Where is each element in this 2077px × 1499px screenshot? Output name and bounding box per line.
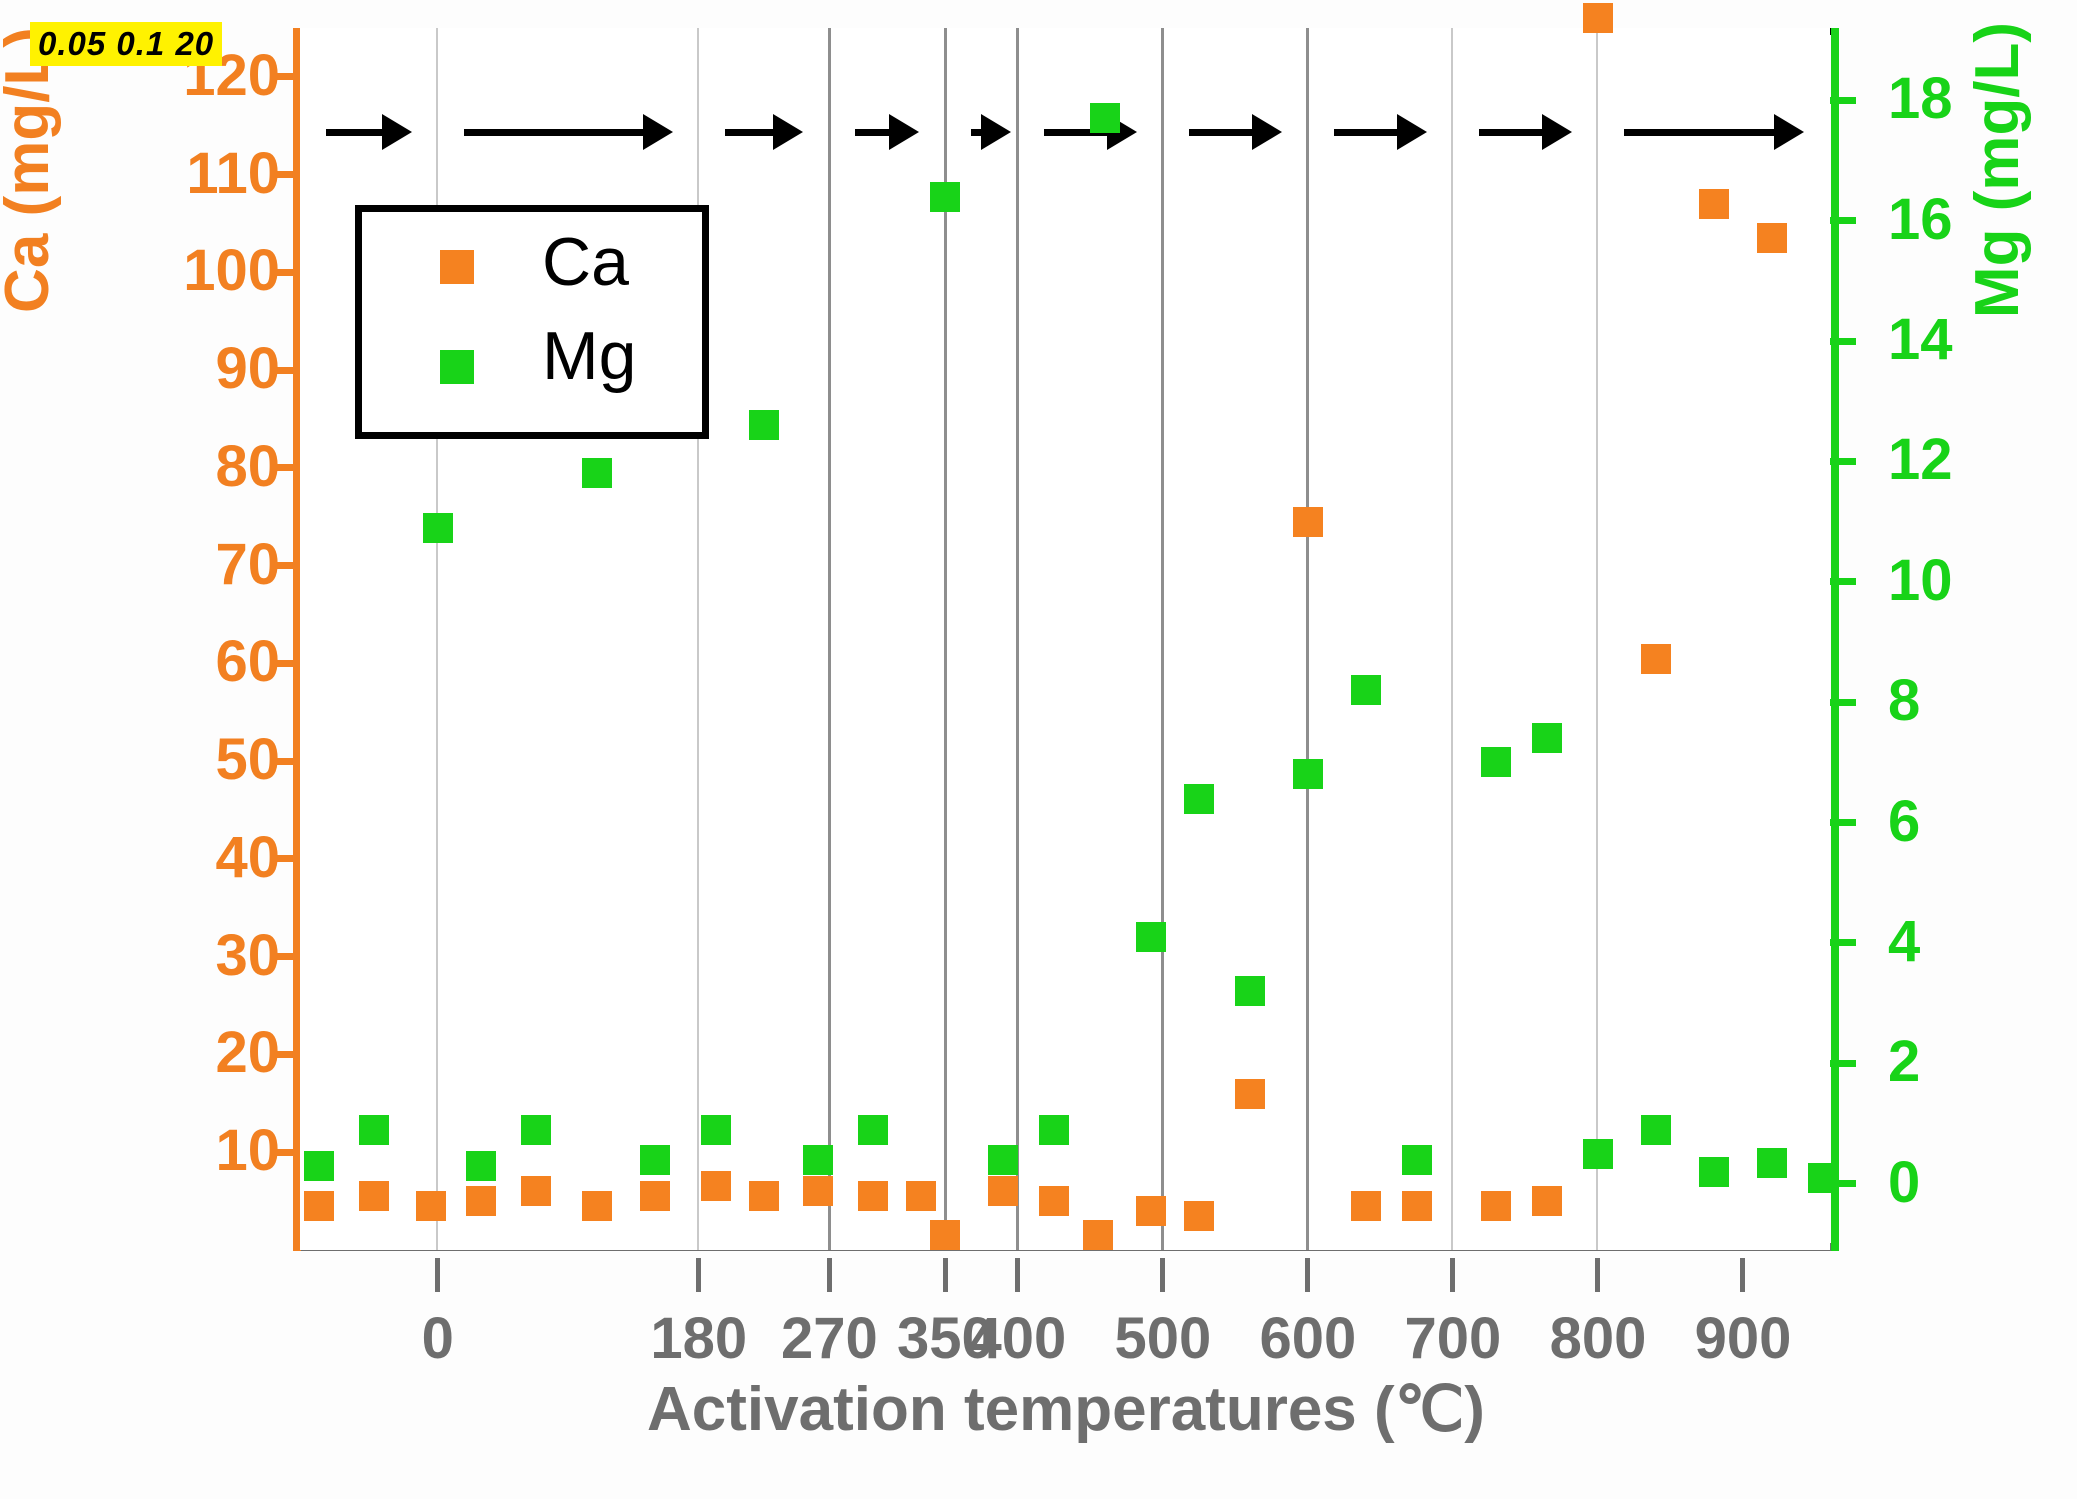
y-tick-label-right-4: 4 [1888, 913, 2028, 971]
arrow-shaft [326, 129, 382, 136]
y-tick-label-right-6: 6 [1888, 793, 2028, 851]
y-tick-label-right-14: 14 [1888, 311, 2028, 369]
y-tick-label-right-16: 16 [1888, 191, 2028, 249]
data-point-ca-3 [466, 1186, 496, 1216]
y-tick-right-10 [1830, 578, 1856, 585]
gridline-800 [1596, 28, 1598, 1250]
data-point-mg-8 [749, 410, 779, 440]
data-point-mg-1 [359, 1115, 389, 1145]
arrow-shaft [464, 129, 643, 136]
data-point-mg-13 [1039, 1115, 1069, 1145]
arrow-head [1542, 114, 1572, 150]
flow-arrow-9 [1479, 114, 1572, 150]
y-tick-label-left-30: 30 [60, 927, 280, 985]
data-point-mg-17 [1235, 976, 1265, 1006]
gridline-700 [1451, 28, 1453, 1250]
x-tick-label-900: 900 [1633, 1310, 1853, 1368]
x-tick-600 [1305, 1258, 1310, 1292]
x-tick-400 [1015, 1258, 1020, 1292]
legend-entry-mg: Mg [362, 322, 702, 412]
data-point-mg-2 [423, 513, 453, 543]
data-point-ca-4 [521, 1176, 551, 1206]
data-point-mg-26 [1757, 1148, 1787, 1178]
y-tick-label-right-12: 12 [1888, 431, 2028, 489]
data-point-mg-16 [1184, 784, 1214, 814]
data-point-ca-21 [1402, 1191, 1432, 1221]
flow-arrow-2 [464, 114, 673, 150]
arrow-shaft [725, 129, 774, 136]
data-point-ca-19 [1293, 507, 1323, 537]
data-point-mg-12 [988, 1145, 1018, 1175]
legend-swatch-ca [440, 250, 474, 284]
data-point-ca-23 [1532, 1186, 1562, 1216]
x-tick-350 [943, 1258, 948, 1292]
legend-label-ca: Ca [542, 228, 629, 296]
flow-arrow-5 [971, 114, 1011, 150]
data-point-ca-0 [304, 1191, 334, 1221]
y-tick-label-left-10: 10 [60, 1122, 280, 1180]
arrow-head [1397, 114, 1427, 150]
y-tick-label-left-110: 110 [60, 145, 280, 203]
y-tick-label-left-70: 70 [60, 536, 280, 594]
annotation-badge: 0.05 0.1 20 [30, 22, 222, 66]
data-point-mg-11 [930, 182, 960, 212]
arrow-head [889, 114, 919, 150]
y-tick-label-right-0: 0 [1888, 1154, 2028, 1212]
flow-arrow-7 [1189, 114, 1282, 150]
data-point-ca-16 [1136, 1196, 1166, 1226]
y-tick-label-left-60: 60 [60, 633, 280, 691]
data-point-mg-21 [1481, 747, 1511, 777]
data-point-ca-9 [803, 1176, 833, 1206]
arrow-shaft [1479, 129, 1542, 136]
legend-swatch-mg [440, 350, 474, 384]
arrow-shaft [1189, 129, 1252, 136]
flow-arrow-3 [725, 114, 804, 150]
data-point-mg-4 [521, 1115, 551, 1145]
data-point-mg-19 [1351, 675, 1381, 705]
flow-arrow-10 [1624, 114, 1804, 150]
y-tick-right-4 [1830, 939, 1856, 946]
arrow-head [382, 114, 412, 150]
x-tick-500 [1160, 1258, 1165, 1292]
data-point-mg-24 [1641, 1115, 1671, 1145]
data-point-mg-5 [582, 458, 612, 488]
y-tick-label-left-50: 50 [60, 731, 280, 789]
data-point-ca-22 [1481, 1191, 1511, 1221]
y-axis-right-line [1831, 28, 1839, 1251]
data-point-ca-12 [930, 1220, 960, 1250]
arrow-head [1774, 114, 1804, 150]
y-tick-label-right-18: 18 [1888, 70, 2028, 128]
y-tick-right-8 [1830, 699, 1856, 706]
arrow-shaft [855, 129, 889, 136]
data-point-mg-10 [858, 1115, 888, 1145]
data-point-ca-6 [640, 1181, 670, 1211]
x-tick-900 [1740, 1258, 1745, 1292]
data-point-mg-14 [1090, 103, 1120, 133]
data-point-ca-24 [1583, 3, 1613, 33]
data-point-mg-23 [1583, 1139, 1613, 1169]
arrow-shaft [1624, 129, 1774, 136]
data-point-mg-20 [1402, 1145, 1432, 1175]
y-tick-label-left-80: 80 [60, 438, 280, 496]
data-point-mg-6 [640, 1145, 670, 1175]
data-point-mg-25 [1699, 1157, 1729, 1187]
flow-arrow-8 [1334, 114, 1427, 150]
y-tick-label-left-40: 40 [60, 829, 280, 887]
flow-arrow-1 [326, 114, 412, 150]
arrow-shaft [971, 129, 981, 136]
y-tick-right-14 [1830, 338, 1856, 345]
gridline-600 [1306, 28, 1309, 1250]
data-point-ca-26 [1699, 189, 1729, 219]
y-tick-label-left-100: 100 [60, 242, 280, 300]
data-point-ca-2 [416, 1191, 446, 1221]
x-axis-title: Activation temperatures (℃) [300, 1372, 1832, 1445]
chart-figure: Ca (mg/L) Mg (mg/L) Activation temperatu… [0, 0, 2077, 1499]
x-tick-270 [827, 1258, 832, 1292]
x-tick-700 [1450, 1258, 1455, 1292]
x-tick-0 [435, 1258, 440, 1292]
y-tick-label-right-2: 2 [1888, 1033, 2028, 1091]
y-tick-label-left-20: 20 [60, 1024, 280, 1082]
gridline-500 [1161, 28, 1164, 1250]
data-point-mg-27 [1808, 1163, 1838, 1193]
arrow-head [643, 114, 673, 150]
data-point-mg-7 [701, 1115, 731, 1145]
gridline-400 [1016, 28, 1019, 1250]
legend-label-mg: Mg [542, 322, 636, 390]
gridline-270 [828, 28, 831, 1250]
x-tick-800 [1595, 1258, 1600, 1292]
y-tick-label-left-90: 90 [60, 340, 280, 398]
data-point-ca-20 [1351, 1191, 1381, 1221]
data-point-ca-27 [1757, 223, 1787, 253]
data-point-ca-18 [1235, 1079, 1265, 1109]
data-point-ca-1 [359, 1181, 389, 1211]
data-point-mg-22 [1532, 723, 1562, 753]
data-point-ca-10 [858, 1181, 888, 1211]
data-point-mg-18 [1293, 759, 1323, 789]
y-tick-right-6 [1830, 819, 1856, 826]
data-point-ca-15 [1083, 1220, 1113, 1250]
y-tick-right-18 [1830, 97, 1856, 104]
data-point-mg-9 [803, 1145, 833, 1175]
data-point-mg-3 [466, 1151, 496, 1181]
y-tick-right-12 [1830, 458, 1856, 465]
chart-legend: Ca Mg [355, 205, 709, 439]
data-point-ca-8 [749, 1181, 779, 1211]
arrow-head [981, 114, 1011, 150]
y-tick-right-16 [1830, 217, 1856, 224]
arrow-shaft [1334, 129, 1397, 136]
y-tick-label-right-10: 10 [1888, 552, 2028, 610]
data-point-ca-13 [988, 1176, 1018, 1206]
data-point-ca-7 [701, 1171, 731, 1201]
data-point-ca-5 [582, 1191, 612, 1221]
legend-entry-ca: Ca [362, 222, 702, 312]
data-point-ca-11 [906, 1181, 936, 1211]
flow-arrow-4 [855, 114, 919, 150]
data-point-mg-0 [304, 1151, 334, 1181]
x-tick-label-0: 0 [328, 1310, 548, 1368]
x-tick-180 [696, 1258, 701, 1292]
y-tick-right-2 [1830, 1060, 1856, 1067]
data-point-mg-15 [1136, 922, 1166, 952]
arrow-head [773, 114, 803, 150]
data-point-ca-25 [1641, 644, 1671, 674]
data-point-ca-17 [1184, 1201, 1214, 1231]
y-tick-label-right-8: 8 [1888, 672, 2028, 730]
data-point-ca-14 [1039, 1186, 1069, 1216]
arrow-head [1252, 114, 1282, 150]
